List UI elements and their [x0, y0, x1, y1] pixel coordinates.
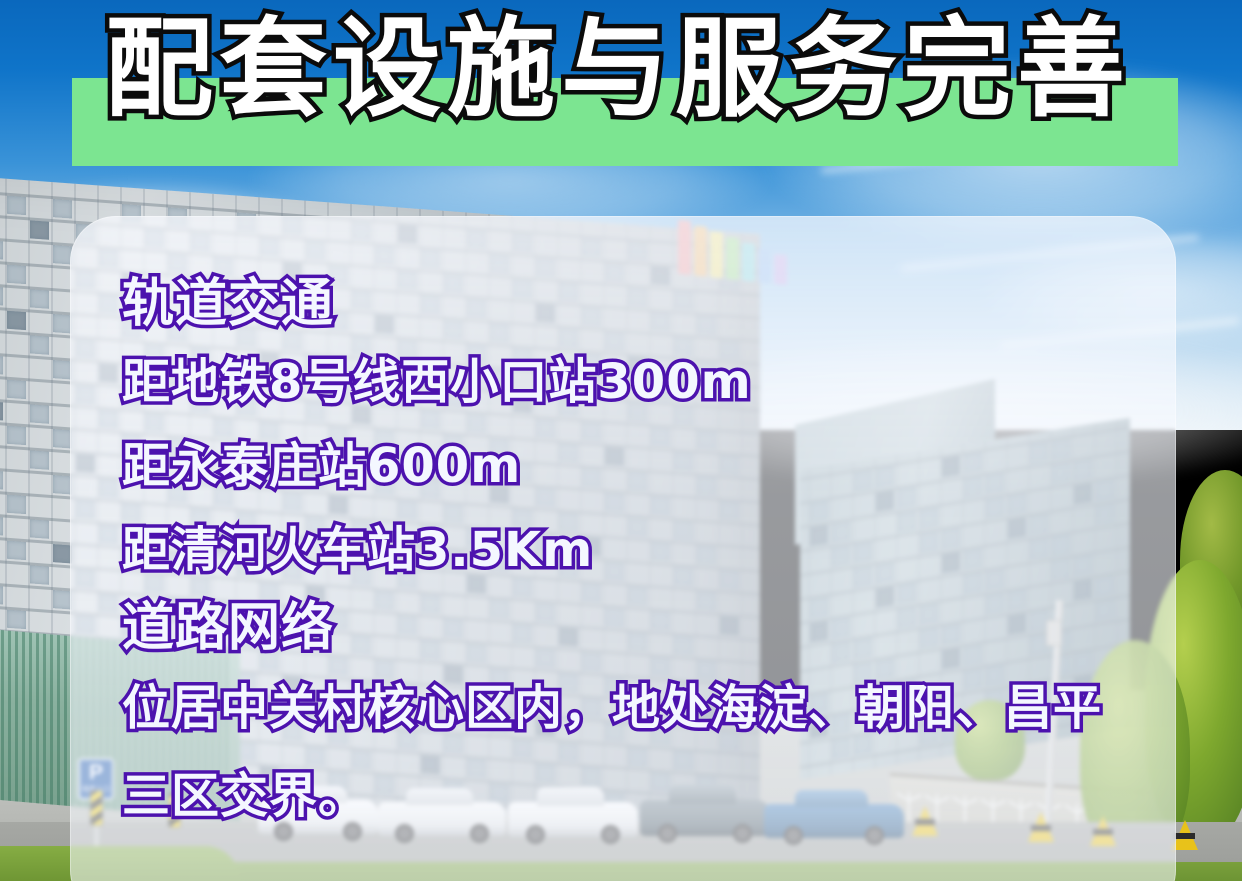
rail-line-item: 距永泰庄站600m — [122, 424, 1142, 508]
section-heading-road-network: 道路网络 — [122, 592, 1142, 664]
road-network-paragraph: 位居中关村核心区内，地处海淀、朝阳、昌平三区交界。 — [122, 664, 1132, 840]
section-heading-rail-transit: 轨道交通 — [122, 268, 1142, 340]
rail-line-item: 距地铁8号线西小口站300m — [122, 340, 1142, 424]
poster-canvas: P 地库入口 配套设施与服务完善 轨道交通 距地铁8号线西小口站300m 距永泰… — [0, 0, 1242, 881]
info-card-content: 轨道交通 距地铁8号线西小口站300m 距永泰庄站600m 距清河火车站3.5K… — [122, 268, 1142, 840]
page-title: 配套设施与服务完善 — [105, 14, 1205, 126]
rail-line-item: 距清河火车站3.5Km — [122, 508, 1142, 592]
